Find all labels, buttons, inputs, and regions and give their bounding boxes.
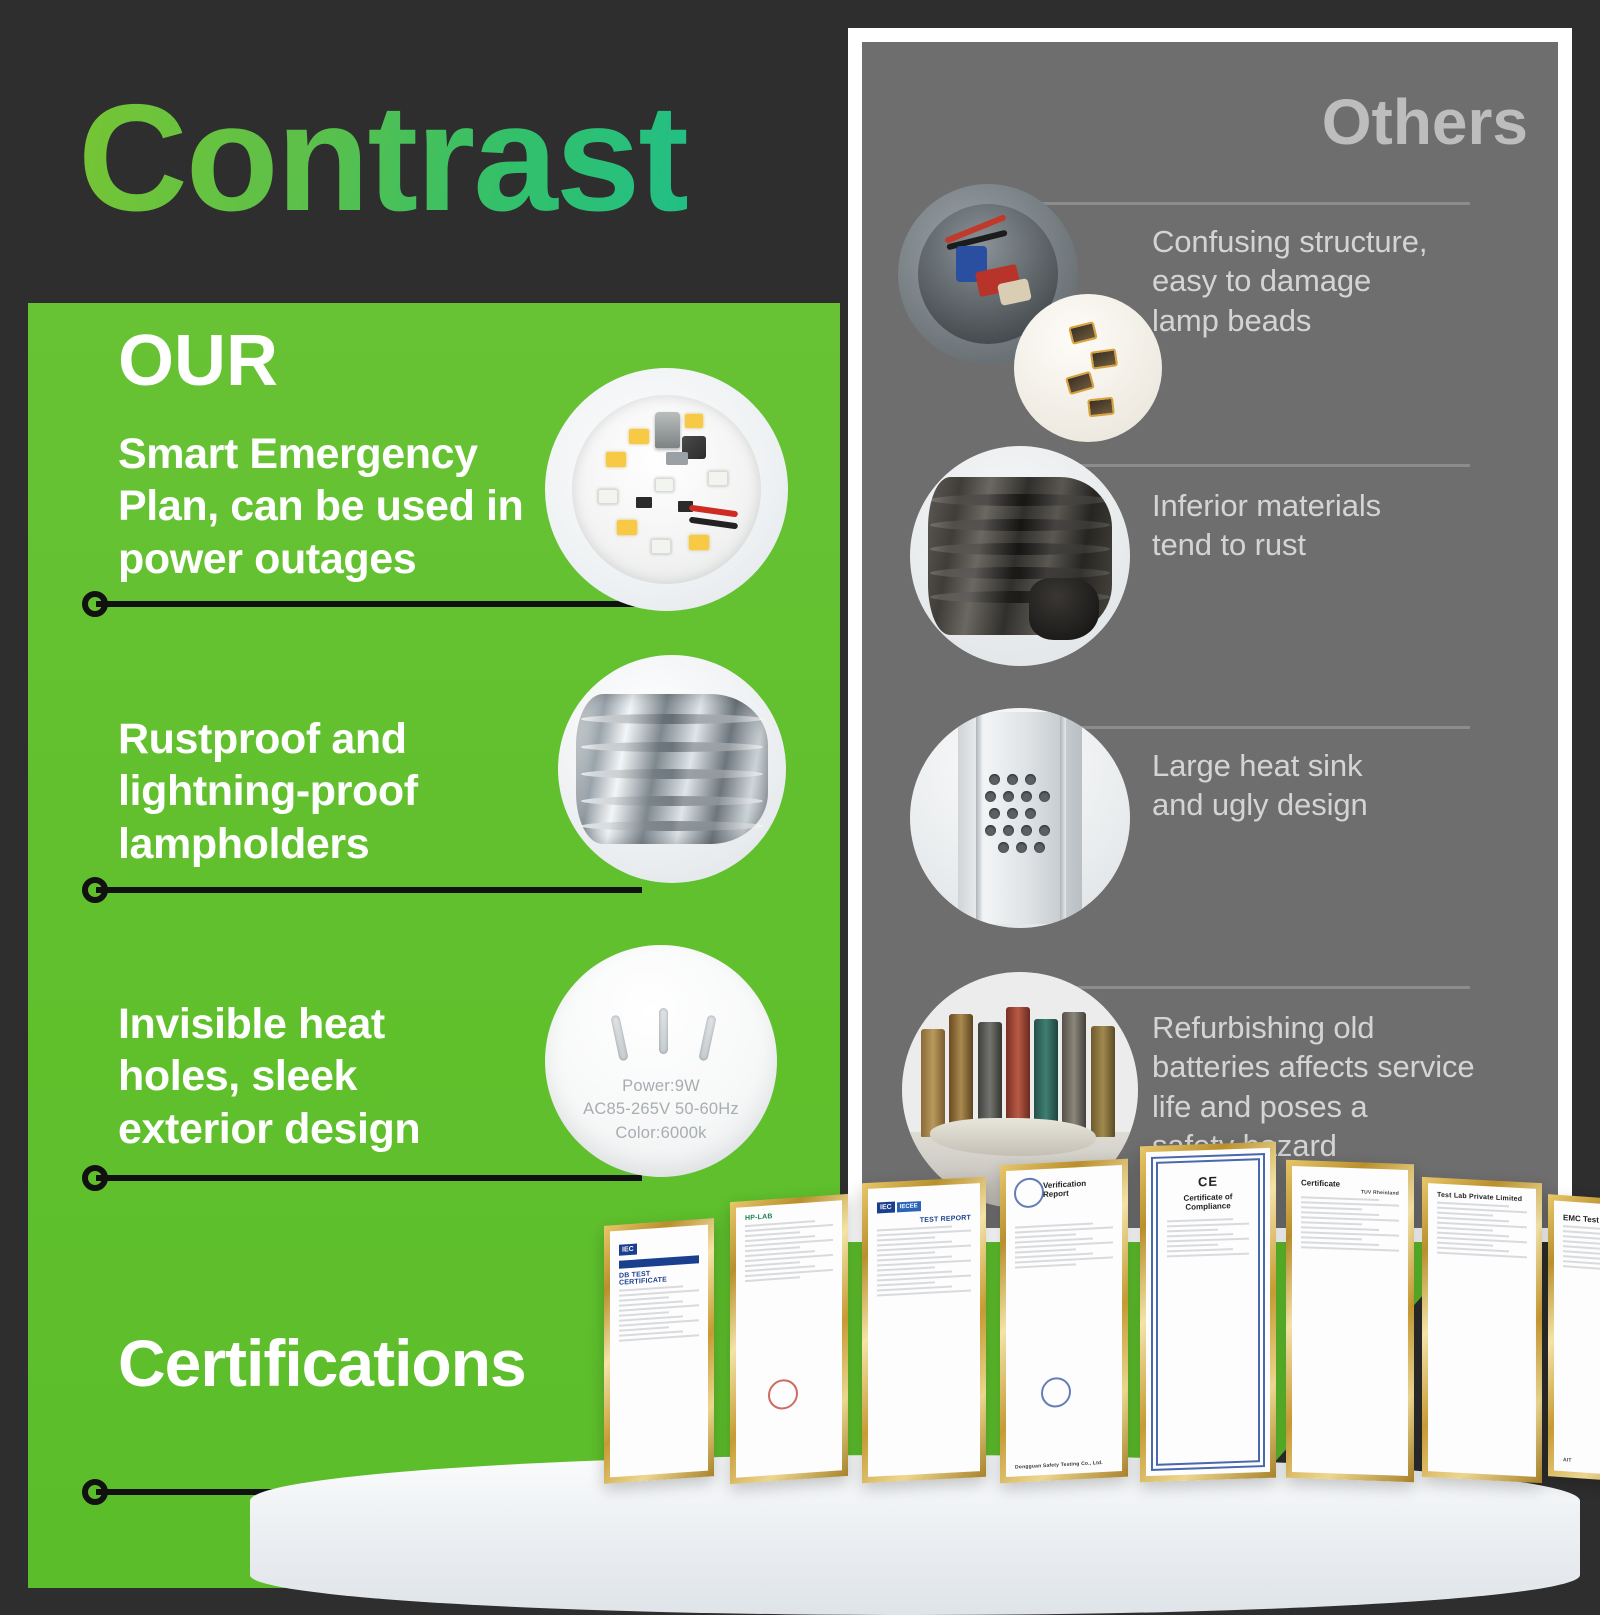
others-feature-text: Large heat sink and ugly design xyxy=(1152,746,1512,825)
large-heat-sink-photo xyxy=(910,708,1130,928)
iec-logo-icon: IEC xyxy=(877,1202,895,1214)
vent-hole xyxy=(1021,791,1032,802)
base-contact-tip xyxy=(1029,578,1099,640)
vent-hole xyxy=(1021,825,1032,836)
certificate-org: Dongguan Safety Testing Co., Ltd. xyxy=(1015,1460,1103,1471)
certificate-title: Certificate of Compliance xyxy=(1167,1192,1249,1213)
capacitor-part xyxy=(655,412,680,448)
certificate-sheet: Certificate TUV Rheinland xyxy=(1292,1166,1408,1476)
our-panel-label: OUR xyxy=(118,325,278,397)
certificate-card: Certificate TUV Rheinland xyxy=(1286,1160,1414,1482)
certificates-display: IEC DB TEST CERTIFICATE HP-LAB IECIE xyxy=(0,1215,1600,1600)
certificate-card: CE Certificate of Compliance xyxy=(1140,1142,1276,1483)
vent-hole-grid xyxy=(985,774,1055,849)
iecee-logo-icon: IECEE xyxy=(897,1201,921,1212)
thread-ring xyxy=(581,742,763,752)
certificate-sheet: EMC Test Report AIT xyxy=(1554,1201,1600,1478)
damaged-lamp-beads-photo xyxy=(1014,294,1162,442)
led-bead xyxy=(685,414,703,428)
vent-hole xyxy=(989,808,1000,819)
vent-hole xyxy=(1016,842,1027,853)
certificate-sheet: IEC DB TEST CERTIFICATE xyxy=(610,1225,708,1478)
vent-hole xyxy=(1025,808,1036,819)
pcb-surface xyxy=(572,395,762,585)
connector-rule xyxy=(1012,202,1470,205)
certificate-title: TEST REPORT xyxy=(877,1215,971,1227)
vent-hole xyxy=(1007,808,1018,819)
certificate-card: Test Lab Private Limited xyxy=(1422,1177,1542,1483)
black-wire xyxy=(689,516,739,529)
battery xyxy=(1091,1026,1115,1137)
chrome-lampholder-photo xyxy=(558,655,786,883)
certificate-card: Verification Report Dongguan Safety Test… xyxy=(1000,1159,1128,1484)
red-stamp-icon xyxy=(768,1379,798,1411)
lamp-bead xyxy=(1090,349,1118,370)
heatsink-rib xyxy=(1060,708,1066,928)
lamp-bead xyxy=(1065,371,1095,395)
heat-vent-slot xyxy=(610,1014,628,1061)
vent-hole xyxy=(998,842,1009,853)
others-panel-frame: Others Confusing structure, easy to dama… xyxy=(848,28,1572,1242)
led-bead xyxy=(651,539,671,554)
certificate-sheet: Verification Report Dongguan Safety Test… xyxy=(1006,1165,1122,1477)
blue-stamp-icon xyxy=(1041,1376,1071,1408)
product-spec-label: Power:9W AC85-265V 50-60Hz Color:6000k xyxy=(545,1075,777,1145)
lamp-bead xyxy=(1068,321,1098,345)
heat-vent-slot xyxy=(698,1014,716,1061)
vent-hole xyxy=(1007,774,1018,785)
thread-ring xyxy=(581,769,763,779)
certificate-card: HP-LAB xyxy=(730,1194,848,1484)
others-panel-label: Others xyxy=(1322,90,1528,154)
iec-logo-icon: IEC xyxy=(619,1244,637,1256)
thread-ring xyxy=(930,543,1110,555)
vent-hole xyxy=(1034,842,1045,853)
vent-hole xyxy=(1003,825,1014,836)
certificate-sheet: IECIECEE TEST REPORT xyxy=(868,1183,980,1477)
spec-voltage: AC85-265V 50-60Hz xyxy=(545,1098,777,1121)
vent-hole xyxy=(1003,791,1014,802)
certificate-card: IECIECEE TEST REPORT xyxy=(862,1177,986,1483)
certificate-org: HP-LAB xyxy=(745,1209,833,1222)
led-bead xyxy=(629,429,649,444)
certificate-card: EMC Test Report AIT xyxy=(1548,1194,1600,1484)
spec-color-temp: Color:6000k xyxy=(545,1122,777,1145)
vent-hole xyxy=(1039,825,1050,836)
our-feature-text: Rustproof and lightning-proof lampholder… xyxy=(118,713,588,870)
heatsink-rib xyxy=(976,708,982,928)
lamp-bead xyxy=(1087,396,1115,417)
others-feature-text: Confusing structure, easy to damage lamp… xyxy=(1152,222,1512,340)
vent-hole xyxy=(985,791,996,802)
our-feature-text: Smart Emergency Plan, can be used in pow… xyxy=(118,428,588,585)
certificate-org: AIT xyxy=(1563,1457,1572,1464)
connector-rule xyxy=(96,601,642,607)
vent-hole xyxy=(985,825,996,836)
thread-ring xyxy=(930,567,1110,579)
others-feature-text: Inferior materials tend to rust xyxy=(1152,486,1512,565)
heat-vent-slot xyxy=(659,1008,668,1054)
spec-power: Power:9W xyxy=(545,1075,777,1098)
bulb-underside-photo: Power:9W AC85-265V 50-60Hz Color:6000k xyxy=(545,945,777,1177)
vent-hole xyxy=(1039,791,1050,802)
red-wire xyxy=(689,505,739,518)
infographic-canvas: Contrast OUR Smart Emergency Plan, can b… xyxy=(0,0,1600,1600)
vent-hole xyxy=(989,774,1000,785)
led-driver-board-photo xyxy=(545,368,788,611)
certificate-sheet: CE Certificate of Compliance xyxy=(1146,1148,1270,1476)
certificate-sheet: Test Lab Private Limited xyxy=(1428,1183,1536,1477)
connector-rule xyxy=(96,887,642,893)
led-bead xyxy=(655,478,674,492)
smd-component xyxy=(666,452,688,465)
battery xyxy=(921,1029,945,1138)
our-feature-item: Smart Emergency Plan, can be used in pow… xyxy=(118,428,588,585)
rusted-lamp-base-photo xyxy=(910,446,1130,666)
led-bead xyxy=(689,535,709,550)
led-bead xyxy=(598,489,618,504)
thread-ring xyxy=(930,519,1110,531)
led-bead xyxy=(606,452,626,467)
vent-hole xyxy=(1025,774,1036,785)
led-bead xyxy=(617,520,637,535)
smd-component xyxy=(636,497,652,508)
our-feature-item: Rustproof and lightning-proof lampholder… xyxy=(118,713,588,870)
our-feature-text: Invisible heat holes, sleek exterior des… xyxy=(118,998,588,1155)
others-panel: Others Confusing structure, easy to dama… xyxy=(862,42,1558,1228)
our-feature-item: Invisible heat holes, sleek exterior des… xyxy=(118,998,588,1155)
connector-rule xyxy=(96,1175,642,1181)
page-title: Contrast xyxy=(78,82,687,234)
battery xyxy=(1062,1012,1086,1137)
certificate-sheet: HP-LAB xyxy=(736,1200,842,1477)
beige-component xyxy=(997,278,1032,306)
led-bead xyxy=(708,471,728,486)
certificate-card: IEC DB TEST CERTIFICATE xyxy=(604,1218,714,1484)
ce-mark-icon: CE xyxy=(1167,1173,1249,1191)
certificate-title: Verification Report xyxy=(1043,1177,1113,1199)
blue-stamp-icon xyxy=(1014,1177,1044,1209)
certificate-title: DB TEST CERTIFICATE xyxy=(619,1267,699,1287)
others-feature-text: Refurbishing old batteries affects servi… xyxy=(1152,1008,1542,1165)
